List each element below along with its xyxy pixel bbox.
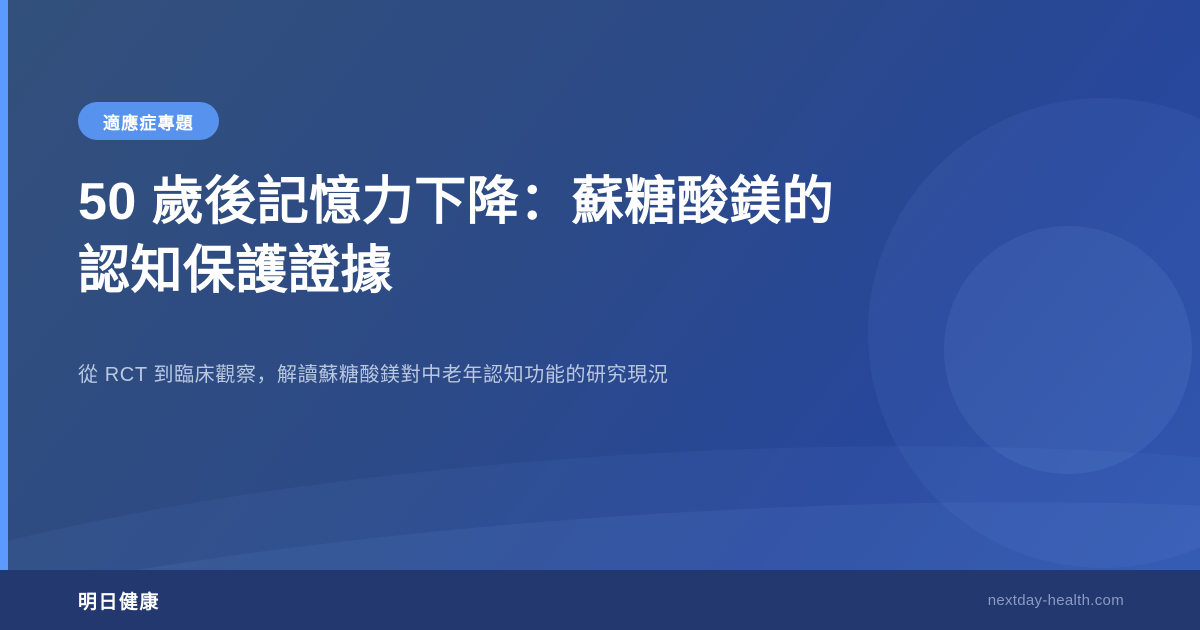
card-title: 50 歲後記憶力下降：蘇糖酸鎂的認知保護證據 [78, 168, 838, 305]
social-share-card: 適應症專題 50 歲後記憶力下降：蘇糖酸鎂的認知保護證據 從 RCT 到臨床觀察… [0, 0, 1200, 630]
footer-brand-name: 明日健康 [78, 587, 160, 614]
category-badge[interactable]: 適應症專題 [78, 102, 219, 140]
card-content: 適應症專題 50 歲後記憶力下降：蘇糖酸鎂的認知保護證據 從 RCT 到臨床觀察… [78, 0, 978, 570]
decorative-circle-inner [944, 226, 1192, 474]
left-accent-bar [0, 0, 8, 570]
card-subtitle: 從 RCT 到臨床觀察，解讀蘇糖酸鎂對中老年認知功能的研究現況 [78, 359, 878, 391]
footer-site-url: nextday-health.com [988, 592, 1124, 609]
card-footer: 明日健康 nextday-health.com [0, 570, 1200, 630]
